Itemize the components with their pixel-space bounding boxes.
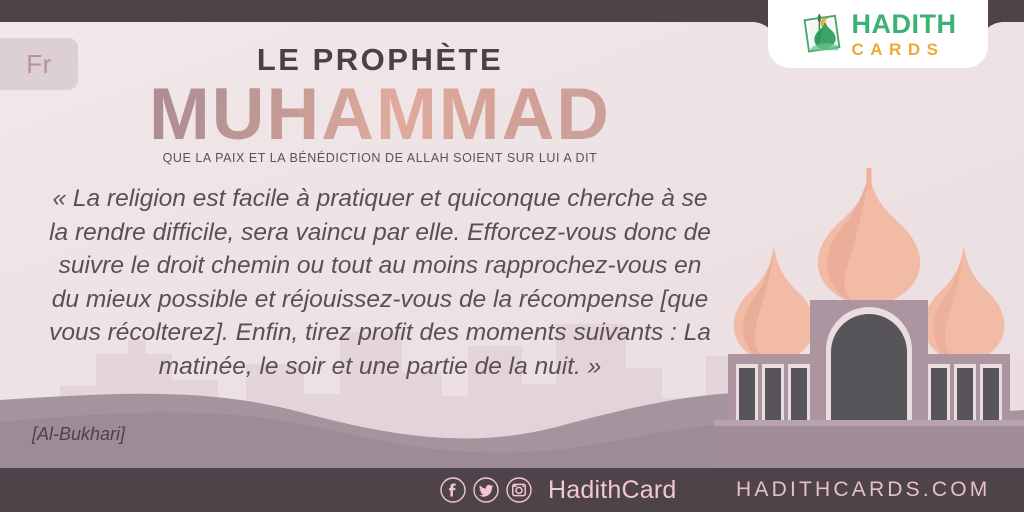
website-url: HADITHCARDS.COM (736, 478, 991, 502)
quote-line: suivre le droit chemin ou tout au moins … (22, 249, 738, 283)
header-eyebrow: LE PROPHÈTE (0, 44, 760, 75)
logo-secondary-text: CARDS (852, 41, 957, 58)
mosque-photo-frame-icon (800, 11, 846, 57)
page-title: MUHAMMAD (0, 77, 760, 154)
quote-line: « La religion est facile à pratiquer et … (22, 182, 738, 216)
mosque-illustration (714, 168, 1024, 468)
instagram-icon[interactable] (506, 477, 532, 503)
card-header: LE PROPHÈTE MUHAMMAD QUE LA PAIX ET LA B… (0, 44, 760, 165)
facebook-icon[interactable] (440, 477, 466, 503)
twitter-icon[interactable] (473, 477, 499, 503)
quote-line: la rendre difficile, sera vaincu par ell… (22, 216, 738, 250)
quote-line: matinée, le soir et une partie de la nui… (22, 350, 738, 384)
logo-primary-text: HADITH (852, 11, 957, 38)
quote-line: vous récolterez]. Enfin, tirez profit de… (22, 316, 738, 350)
social-links: HadithCard (440, 476, 676, 505)
quote-line: du mieux possible et réjouissez-vous de … (22, 283, 738, 317)
hadith-source: [Al-Bukhari] (32, 424, 125, 445)
social-handle: HadithCard (548, 476, 676, 505)
language-badge[interactable]: Fr (0, 38, 78, 90)
brand-logo[interactable]: HADITH CARDS (768, 0, 988, 68)
hadith-card: HADITH CARDS Fr LE PROPHÈTE MUHAMMAD QUE… (0, 0, 1024, 512)
header-subtitle: QUE LA PAIX ET LA BÉNÉDICTION DE ALLAH S… (0, 151, 760, 165)
language-badge-label: Fr (26, 49, 52, 80)
hadith-quote: « La religion est facile à pratiquer et … (22, 182, 738, 383)
footer-bar: HadithCard HADITHCARDS.COM (0, 468, 1024, 512)
